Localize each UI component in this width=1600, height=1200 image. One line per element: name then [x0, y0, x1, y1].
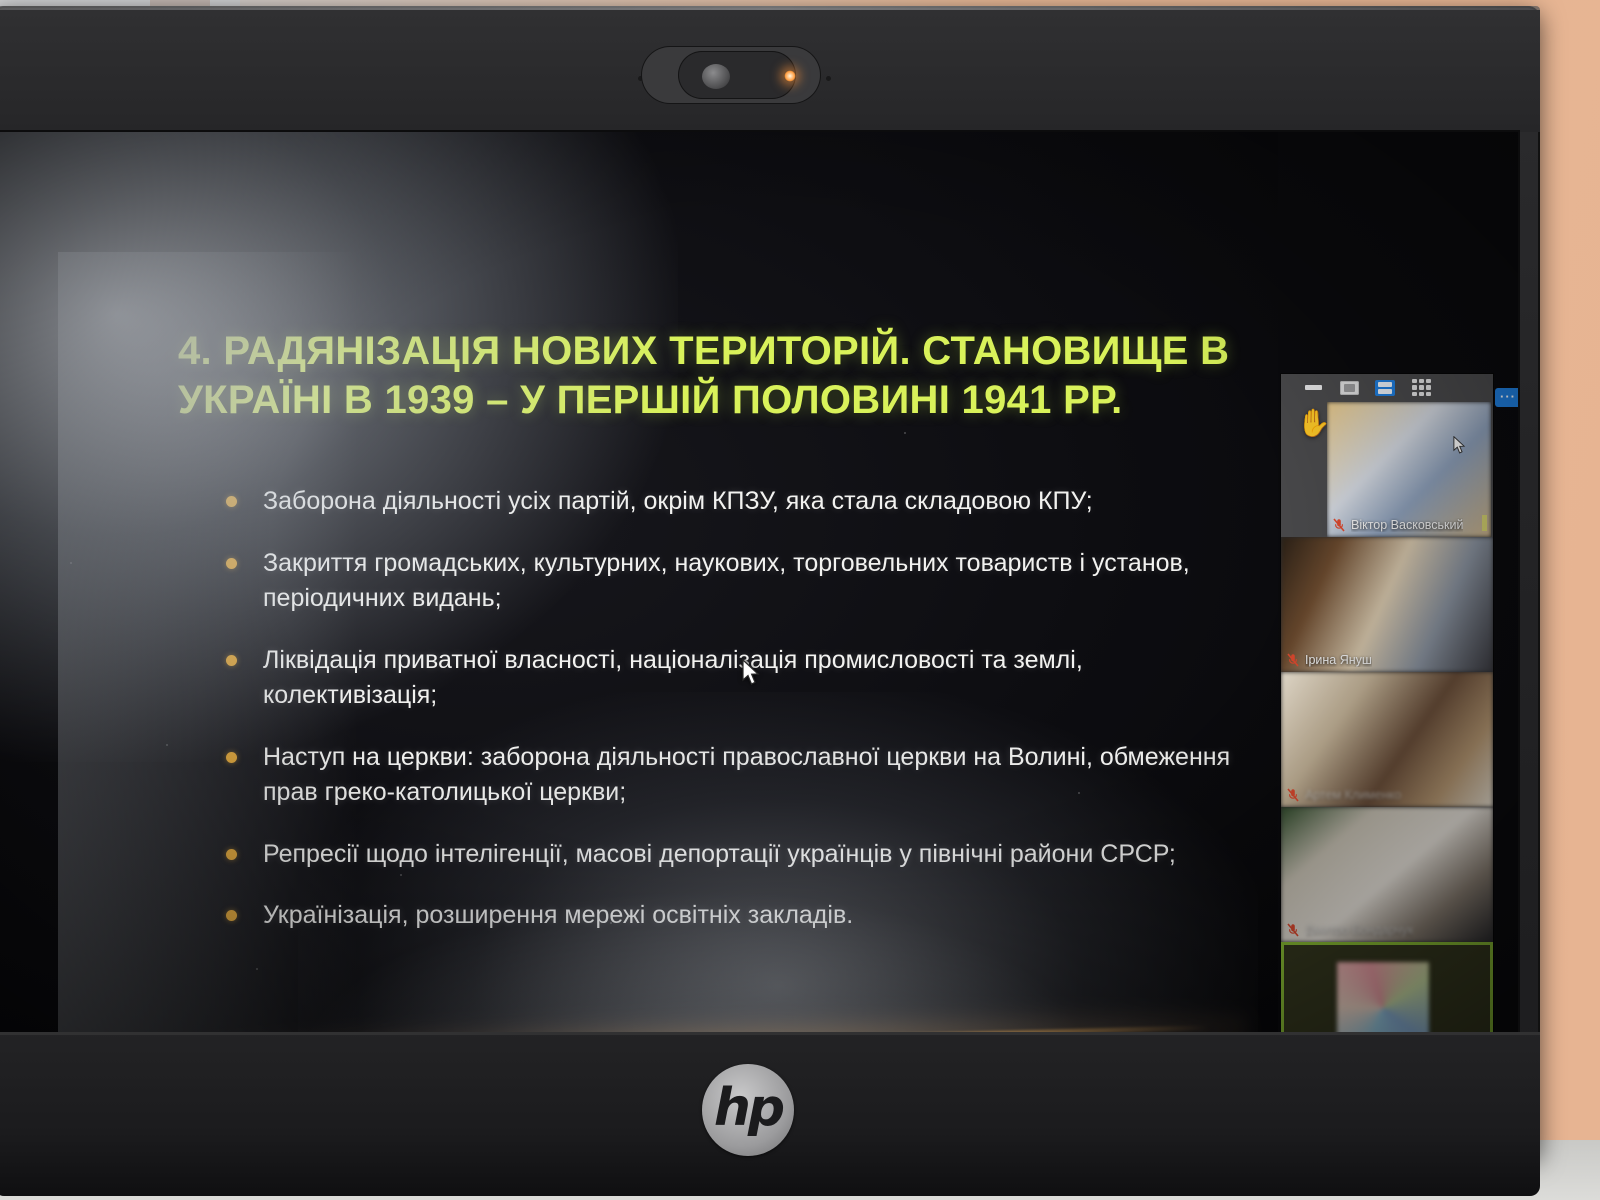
bullet-dot-icon [226, 558, 237, 569]
bullet-dot-icon [226, 752, 237, 763]
gallery-view-icon[interactable] [1411, 380, 1431, 395]
avatar [1337, 962, 1429, 1032]
list-item: Закриття громадських, культурних, науков… [226, 546, 1236, 617]
speaker-view-icon[interactable] [1339, 380, 1359, 395]
laptop-lid: 4. РАДЯНІЗАЦІЯ НОВИХ ТЕРИТОРІЙ. СТАНОВИЩ… [0, 6, 1540, 1156]
hp-logo: hp [702, 1064, 794, 1156]
bullet-dot-icon [226, 496, 237, 507]
photo-scene: 4. РАДЯНІЗАЦІЯ НОВИХ ТЕРИТОРІЙ. СТАНОВИЩ… [0, 0, 1600, 1200]
webcam-shutter [678, 51, 796, 99]
webcam-lens-icon [702, 64, 730, 89]
slide-title: 4. РАДЯНІЗАЦІЯ НОВИХ ТЕРИТОРІЙ. СТАНОВИЩ… [178, 327, 1238, 425]
bullet-text: Заборона діяльності усіх партій, окрім К… [263, 484, 1093, 520]
audio-level-indicator [1482, 515, 1487, 531]
list-item: Репресії щодо інтелігенції, масові депор… [226, 837, 1236, 873]
slide-light-streak-decoration [148, 1005, 1209, 1032]
list-item: Наступ на церкви: заборона діяльності пр… [226, 740, 1236, 811]
more-options-button[interactable]: ··· [1495, 388, 1518, 407]
muted-mic-icon [1287, 788, 1299, 802]
bullet-dot-icon [226, 655, 237, 666]
muted-mic-icon [1333, 518, 1345, 532]
participant-tile-active-speaker[interactable]: ⌄ Валентина Олександрівна Р... [1281, 942, 1493, 1032]
participant-name-label: Дмитро Бондарчук [1281, 921, 1419, 939]
bullet-text: Репресії щодо інтелігенції, масові депор… [263, 837, 1176, 873]
minimize-icon[interactable] [1303, 380, 1323, 395]
bullet-text: Ліквідація приватної власності, націонал… [263, 643, 1236, 714]
side-by-side-view-icon[interactable] [1375, 380, 1395, 395]
list-item: Українізація, розширення мережі освітніх… [226, 898, 1236, 934]
laptop-screen: 4. РАДЯНІЗАЦІЯ НОВИХ ТЕРИТОРІЙ. СТАНОВИЩ… [0, 132, 1518, 1032]
participant-tile[interactable]: Ірина Януш [1281, 537, 1493, 672]
bullet-dot-icon [226, 849, 237, 860]
muted-mic-icon [1287, 923, 1299, 937]
bullet-text: Українізація, розширення мережі освітніх… [263, 898, 853, 934]
deck-top-edge [0, 1032, 1540, 1035]
participant-name-label: Артем Клименко [1281, 786, 1407, 804]
mouse-cursor-icon [1453, 436, 1467, 460]
list-item: Заборона діяльності усіх партій, окрім К… [226, 484, 1236, 520]
participant-name-label: Віктор Васковський [1327, 516, 1469, 534]
microphone-hole-right [826, 76, 831, 81]
participant-tile-list: Віктор Васковський [1281, 402, 1493, 1032]
muted-mic-icon [1287, 653, 1299, 667]
camera-active-led-icon [784, 70, 796, 82]
video-conference-panel[interactable]: ··· ✋ [1281, 374, 1493, 1032]
hp-laptop: 4. РАДЯНІЗАЦІЯ НОВИХ ТЕРИТОРІЙ. СТАНОВИЩ… [0, 6, 1540, 1196]
participant-tile[interactable]: Віктор Васковський [1327, 402, 1491, 537]
bullet-text: Наступ на церкви: заборона діяльності пр… [263, 740, 1236, 811]
bullet-dot-icon [226, 910, 237, 921]
presentation-slide: 4. РАДЯНІЗАЦІЯ НОВИХ ТЕРИТОРІЙ. СТАНОВИЩ… [0, 132, 1278, 1032]
participant-name-label: Ірина Януш [1281, 651, 1378, 669]
participant-tile[interactable]: Артем Клименко [1281, 672, 1493, 807]
slide-bullet-list: Заборона діяльності усіх партій, окрім К… [226, 484, 1236, 960]
list-item: Ліквідація приватної власності, націонал… [226, 643, 1236, 714]
participant-tile[interactable]: Дмитро Бондарчук [1281, 807, 1493, 942]
bullet-text: Закриття громадських, культурних, науков… [263, 546, 1236, 617]
